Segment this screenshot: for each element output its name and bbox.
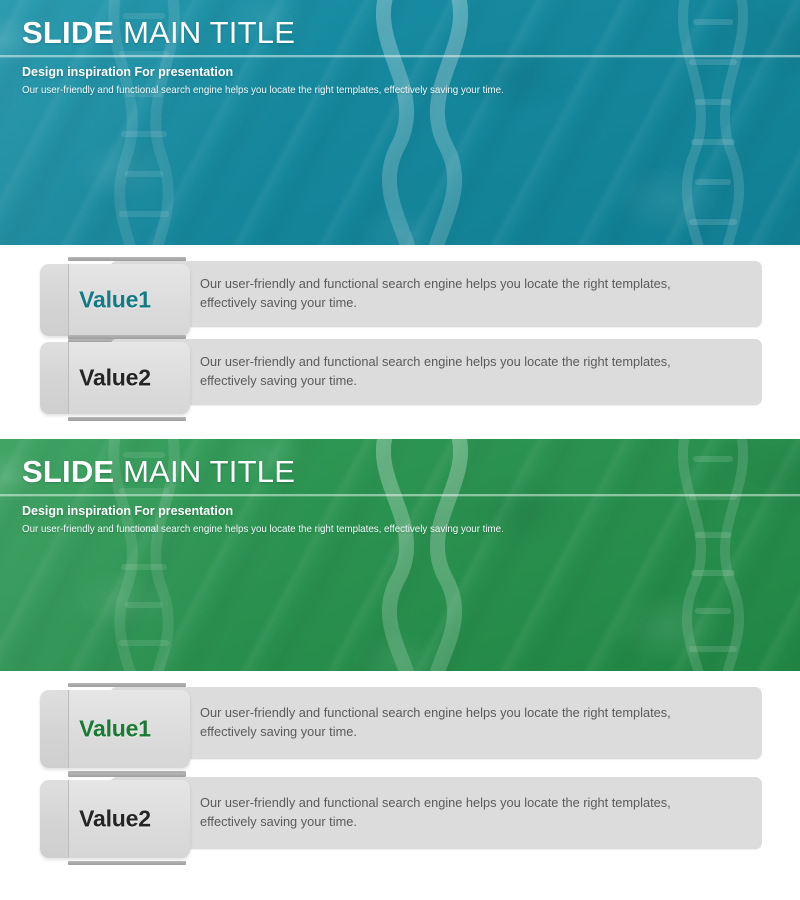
slide-blue-rows: Our user-friendly and functional search … [0, 245, 800, 439]
value-chip[interactable]: Value2 [40, 780, 190, 858]
value-chip-top-bar [68, 683, 186, 687]
banner-divider-line [0, 55, 800, 57]
value-chip[interactable]: Value1 [40, 264, 190, 336]
value-chip-label: Value2 [40, 365, 190, 392]
page-title-strong: SLIDE [22, 15, 114, 50]
value-chip-top-bar [68, 335, 186, 339]
value-chip[interactable]: Value1 [40, 690, 190, 768]
value-chip-bottom-bar [68, 417, 186, 421]
page-title-strong: SLIDE [22, 454, 114, 489]
value-chip-label: Value1 [40, 287, 190, 314]
slide-green-rows: Our user-friendly and functional search … [0, 671, 800, 867]
value-description-text: Our user-friendly and functional search … [200, 352, 724, 390]
slide-green-banner: SLIDE MAIN TITLE Design inspiration For … [0, 439, 800, 671]
value-description-text: Our user-friendly and functional search … [200, 793, 724, 831]
slide-blue-title-block: SLIDE MAIN TITLE [22, 17, 295, 48]
value-description-panel: Our user-friendly and functional search … [110, 339, 762, 405]
value-chip-top-bar [68, 773, 186, 777]
value-chip[interactable]: Value2 [40, 342, 190, 414]
slide-description: Our user-friendly and functional search … [22, 84, 504, 96]
value-chip-label: Value2 [40, 806, 190, 833]
slide-green-title-block: SLIDE MAIN TITLE [22, 456, 295, 487]
page-title: SLIDE MAIN TITLE [22, 456, 295, 487]
value-chip-bottom-bar [68, 861, 186, 865]
page-title-light: MAIN TITLE [114, 454, 295, 489]
banner-divider-line [0, 494, 800, 496]
slide-deck-preview: SLIDE MAIN TITLE Design inspiration For … [0, 0, 800, 900]
slide-green-subtitle-block: Design inspiration For presentation Our … [22, 504, 540, 535]
value-chip-top-bar [68, 257, 186, 261]
slide-blue-banner: SLIDE MAIN TITLE Design inspiration For … [0, 0, 800, 245]
slide-green: SLIDE MAIN TITLE Design inspiration For … [0, 439, 800, 867]
value-description-text: Our user-friendly and functional search … [200, 703, 724, 741]
value-chip-label: Value1 [40, 716, 190, 743]
value-description-panel: Our user-friendly and functional search … [110, 777, 762, 849]
value-row[interactable]: Our user-friendly and functional search … [0, 777, 800, 867]
slide-blue-subtitle-block: Design inspiration For presentation Our … [22, 65, 540, 96]
slide-subtitle: Design inspiration For presentation [22, 504, 540, 518]
value-row[interactable]: Our user-friendly and functional search … [0, 261, 800, 339]
value-row[interactable]: Our user-friendly and functional search … [0, 339, 800, 417]
slide-subtitle: Design inspiration For presentation [22, 65, 540, 79]
page-title-light: MAIN TITLE [114, 15, 295, 50]
slide-description: Our user-friendly and functional search … [22, 523, 504, 535]
page-title: SLIDE MAIN TITLE [22, 17, 295, 48]
value-description-panel: Our user-friendly and functional search … [110, 261, 762, 327]
value-row[interactable]: Our user-friendly and functional search … [0, 687, 800, 777]
value-description-panel: Our user-friendly and functional search … [110, 687, 762, 759]
value-description-text: Our user-friendly and functional search … [200, 274, 724, 312]
slide-blue: SLIDE MAIN TITLE Design inspiration For … [0, 0, 800, 439]
